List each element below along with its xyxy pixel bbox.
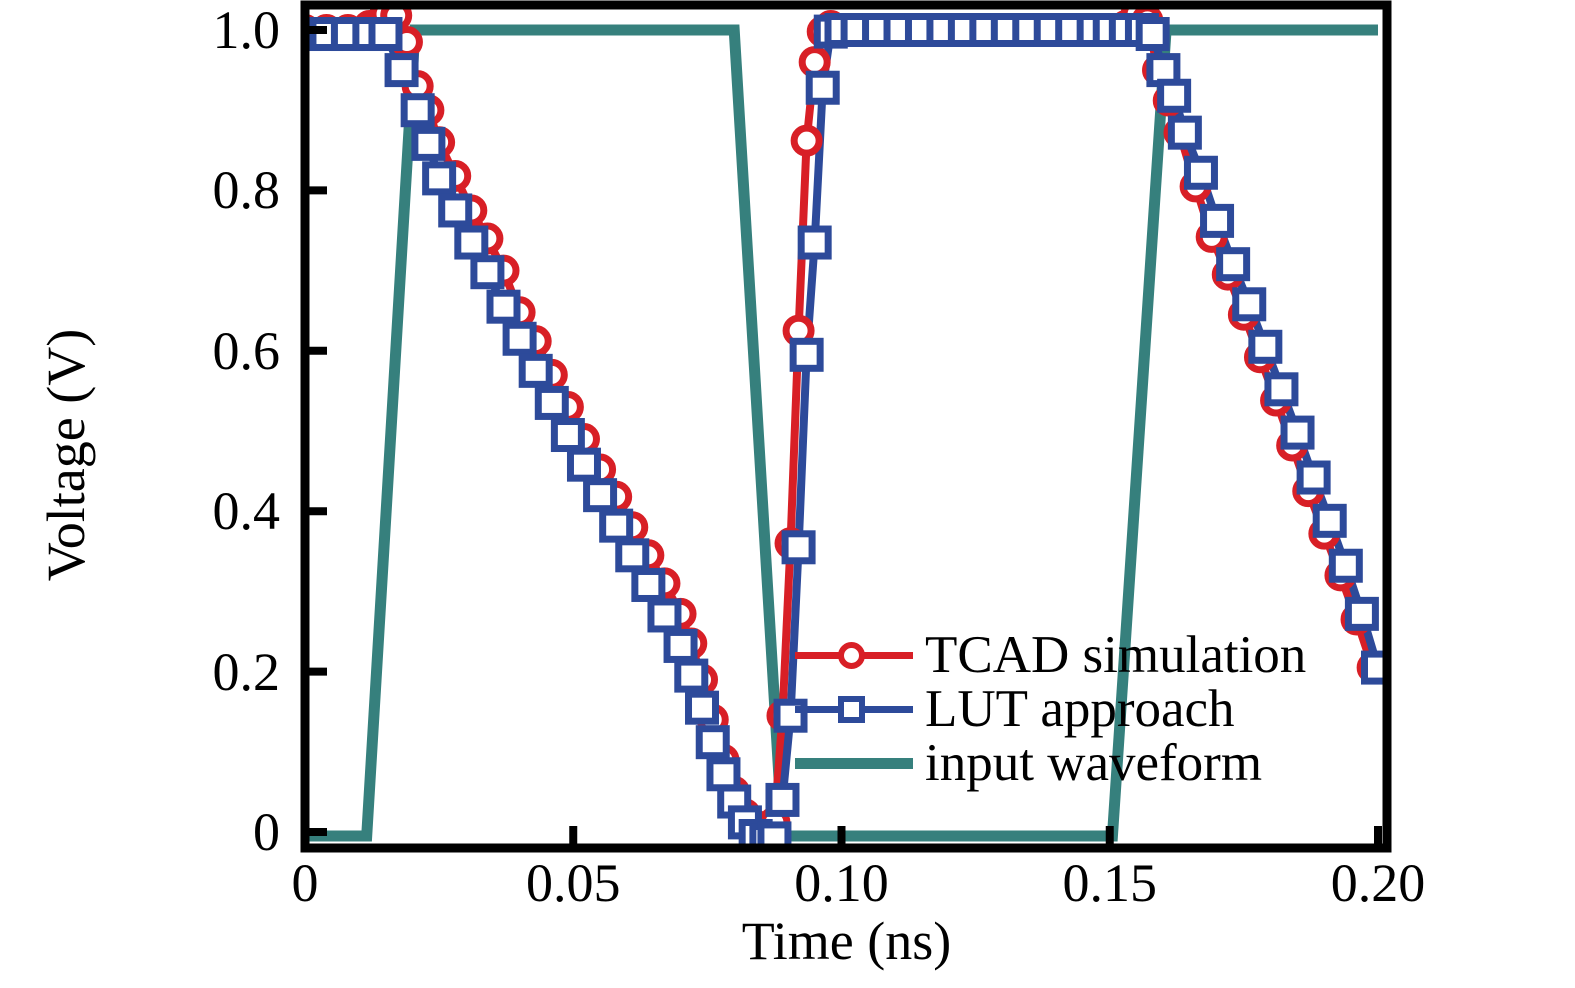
x-tick-label: 0.05 bbox=[453, 856, 693, 910]
x-tick-label: 0 bbox=[185, 856, 425, 910]
square-marker-icon bbox=[838, 696, 865, 723]
legend-label-input: input waveform bbox=[913, 736, 1262, 790]
x-tick-label: 0.15 bbox=[990, 856, 1230, 910]
legend-item-input: input waveform bbox=[795, 736, 1335, 790]
x-axis-title: Time (ns) bbox=[305, 910, 1388, 972]
legend-item-lut: LUT approach bbox=[795, 682, 1335, 736]
y-axis-title: Voltage (V) bbox=[35, 175, 97, 735]
x-tick-labels: 00.050.100.150.20 bbox=[0, 0, 1575, 988]
legend-label-lut: LUT approach bbox=[913, 682, 1235, 736]
chart-figure: 00.20.40.60.81.0 00.050.100.150.20 Volta… bbox=[0, 0, 1575, 988]
legend-label-tcad: TCAD simulation bbox=[913, 628, 1306, 682]
x-tick-label: 0.10 bbox=[722, 856, 962, 910]
legend-item-tcad: TCAD simulation bbox=[795, 628, 1335, 682]
circle-marker-icon bbox=[838, 642, 865, 669]
legend-swatch-tcad bbox=[795, 628, 913, 682]
legend-swatch-input bbox=[795, 736, 913, 790]
chart-legend: TCAD simulation LUT approach input wavef… bbox=[795, 628, 1335, 790]
legend-swatch-lut bbox=[795, 682, 913, 736]
x-tick-label: 0.20 bbox=[1258, 856, 1498, 910]
